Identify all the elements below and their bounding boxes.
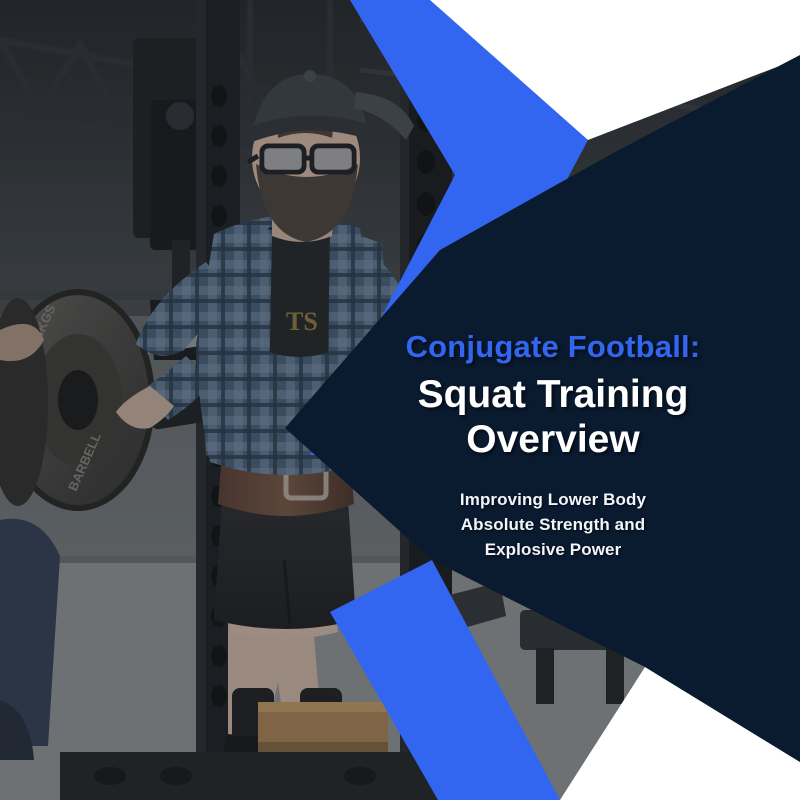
subtitle-block: Improving Lower Body Absolute Strength a… bbox=[318, 488, 788, 562]
poster-canvas: 20.4KGS 45LBS BARBELL bbox=[0, 0, 800, 800]
title-line-3: Overview bbox=[318, 418, 788, 462]
subtitle-line-1: Improving Lower Body bbox=[318, 488, 788, 513]
subtitle-line-3: Explosive Power bbox=[318, 538, 788, 563]
title-line-2: Squat Training bbox=[318, 373, 788, 417]
subtitle-line-2: Absolute Strength and bbox=[318, 513, 788, 538]
title-line-1: Conjugate Football: bbox=[318, 330, 788, 363]
headline-block: Conjugate Football: Squat Training Overv… bbox=[318, 330, 788, 562]
